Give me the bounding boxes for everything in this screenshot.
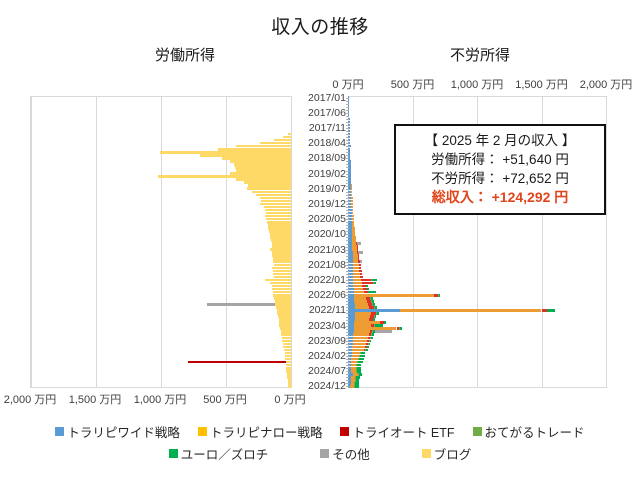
- legend-swatch-icon: [320, 449, 329, 458]
- summary-heading: 【 2025 年 2 月の収入 】: [402, 131, 598, 150]
- category-label: 2022/06: [308, 290, 346, 300]
- category-label: 2022/01: [308, 275, 346, 285]
- category-tick: [346, 338, 349, 339]
- category-tick: [346, 183, 349, 184]
- bar-segment: [355, 385, 359, 388]
- category-tick: [346, 131, 349, 132]
- category-tick: [346, 335, 349, 336]
- subtitle-unearned-income: 不労所得: [355, 44, 605, 65]
- legend-swatch-icon: [198, 427, 207, 436]
- category-tick: [346, 119, 349, 120]
- category-label: 2024/07: [308, 366, 346, 376]
- category-tick: [346, 244, 349, 245]
- legend-item[interactable]: おてがるトレード: [473, 422, 585, 441]
- category-tick: [346, 247, 349, 248]
- category-tick: [346, 231, 349, 232]
- category-label: 2021/08: [308, 260, 346, 270]
- bottom-axis-tick-4: 0 万円: [250, 391, 330, 407]
- category-tick: [346, 368, 349, 369]
- legend-swatch-icon: [55, 427, 64, 436]
- category-label: 2017/11: [309, 123, 346, 133]
- category-tick: [346, 377, 349, 378]
- category-tick: [346, 177, 349, 178]
- category-label: 2018/09: [308, 153, 346, 163]
- category-tick: [346, 307, 349, 308]
- category-tick: [346, 174, 349, 175]
- category-tick: [346, 320, 349, 321]
- gridline-right-panel: [606, 96, 607, 388]
- category-tick: [346, 125, 349, 126]
- category-tick: [346, 149, 349, 150]
- legend-item[interactable]: トラリピワイド戦略: [55, 422, 180, 441]
- category-tick: [346, 365, 349, 366]
- top-axis-tick-4: 2,000 万円: [566, 76, 640, 92]
- category-tick: [346, 222, 349, 223]
- page-title: 収入の推移: [0, 12, 640, 39]
- category-tick: [346, 107, 349, 108]
- legend-label: おてがるトレード: [485, 422, 585, 441]
- category-tick: [346, 371, 349, 372]
- category-tick: [346, 344, 349, 345]
- legend-item[interactable]: トライオート ETF: [340, 422, 454, 441]
- category-tick: [346, 158, 349, 159]
- category-tick: [346, 219, 349, 220]
- category-tick: [346, 210, 349, 211]
- category-tick: [346, 383, 349, 384]
- category-label: 2018/04: [308, 138, 346, 148]
- legend-label: トラリピワイド戦略: [67, 422, 180, 441]
- category-tick: [346, 253, 349, 254]
- legend-item[interactable]: その他: [320, 444, 370, 463]
- category-tick: [346, 128, 349, 129]
- legend-row-1: トラリピワイド戦略トラリピナロー戦略トライオート ETFおてがるトレード: [0, 420, 640, 442]
- bar-segment: [288, 385, 291, 388]
- category-tick: [346, 289, 349, 290]
- category-tick: [346, 295, 349, 296]
- category-tick: [346, 386, 349, 387]
- category-tick: [346, 350, 349, 351]
- category-label: 2020/05: [308, 214, 346, 224]
- legend-label: その他: [332, 444, 370, 463]
- category-axis-labels: 2017/012017/062017/112018/042018/092019/…: [296, 96, 348, 388]
- legend-swatch-icon: [473, 427, 482, 436]
- category-tick: [346, 283, 349, 284]
- category-tick: [346, 180, 349, 181]
- category-tick: [346, 98, 349, 99]
- category-tick: [346, 225, 349, 226]
- income-summary-box: 【 2025 年 2 月の収入 】 労働所得： +51,640 円 不労所得： …: [394, 124, 606, 215]
- legend-swatch-icon: [169, 449, 178, 458]
- bottom-axis-tick-labels: 2,000 万円1,500 万円1,000 万円500 万円0 万円: [0, 391, 640, 407]
- category-tick: [346, 237, 349, 238]
- legend-label: トラリピナロー戦略: [210, 422, 323, 441]
- category-tick: [346, 274, 349, 275]
- bar-row: [31, 385, 291, 388]
- category-label: 2022/11: [309, 305, 346, 315]
- category-tick: [346, 353, 349, 354]
- category-tick: [346, 110, 349, 111]
- category-tick: [346, 146, 349, 147]
- gridline-left-panel: [291, 96, 292, 388]
- chart-legend: トラリピワイド戦略トラリピナロー戦略トライオート ETFおてがるトレード ユーロ…: [0, 420, 640, 472]
- category-tick: [346, 192, 349, 193]
- category-label: 2019/07: [308, 184, 346, 194]
- category-label: 2019/12: [308, 199, 346, 209]
- category-tick: [346, 122, 349, 123]
- category-tick: [346, 277, 349, 278]
- category-label: 2023/09: [308, 336, 346, 346]
- category-tick: [346, 143, 349, 144]
- category-tick: [346, 304, 349, 305]
- category-tick: [346, 301, 349, 302]
- category-tick: [346, 332, 349, 333]
- category-tick: [346, 234, 349, 235]
- summary-total-income: 総収入： +124,292 円: [402, 188, 598, 207]
- category-tick: [346, 137, 349, 138]
- summary-earned-income: 労働所得： +51,640 円: [402, 150, 598, 169]
- category-tick: [346, 271, 349, 272]
- category-tick: [346, 341, 349, 342]
- category-tick: [346, 329, 349, 330]
- category-tick: [346, 152, 349, 153]
- category-tick: [346, 195, 349, 196]
- category-tick: [346, 380, 349, 381]
- category-tick: [346, 186, 349, 187]
- category-label: 2024/12: [308, 381, 346, 391]
- category-tick: [346, 256, 349, 257]
- category-tick: [346, 167, 349, 168]
- category-tick: [346, 265, 349, 266]
- category-tick: [346, 347, 349, 348]
- category-tick: [346, 323, 349, 324]
- category-tick: [346, 286, 349, 287]
- category-tick: [346, 216, 349, 217]
- category-tick: [346, 164, 349, 165]
- category-tick: [346, 201, 349, 202]
- category-tick: [346, 298, 349, 299]
- category-tick: [346, 362, 349, 363]
- category-tick: [346, 213, 349, 214]
- bar-row: [348, 385, 606, 388]
- category-tick: [346, 207, 349, 208]
- category-tick: [346, 268, 349, 269]
- category-tick: [346, 326, 349, 327]
- category-tick: [346, 161, 349, 162]
- category-tick: [346, 313, 349, 314]
- category-label: 2023/04: [308, 321, 346, 331]
- category-label: 2024/02: [308, 351, 346, 361]
- category-tick: [346, 204, 349, 205]
- top-axis-tick-labels: 0 万円500 万円1,000 万円1,500 万円2,000 万円: [0, 76, 640, 92]
- category-label: 2021/03: [308, 245, 346, 255]
- category-tick: [346, 189, 349, 190]
- category-tick: [346, 292, 349, 293]
- category-tick: [346, 259, 349, 260]
- category-tick: [346, 262, 349, 263]
- legend-swatch-icon: [422, 449, 431, 458]
- plot-area-earned-income: [30, 96, 291, 388]
- category-tick: [346, 134, 349, 135]
- category-tick: [346, 140, 349, 141]
- category-tick: [346, 317, 349, 318]
- category-tick: [346, 374, 349, 375]
- legend-item[interactable]: ユーロ／ズロチ: [169, 444, 269, 463]
- legend-swatch-icon: [340, 427, 349, 436]
- category-tick: [346, 171, 349, 172]
- legend-row-2: ユーロ／ズロチその他ブログ: [0, 442, 640, 464]
- legend-label: ブログ: [434, 444, 472, 463]
- category-tick: [346, 240, 349, 241]
- category-tick: [346, 101, 349, 102]
- summary-unearned-income: 不労所得： +72,652 円: [402, 169, 598, 188]
- category-tick: [346, 198, 349, 199]
- category-label: 2019/02: [308, 169, 346, 179]
- category-label: 2017/06: [308, 108, 346, 118]
- legend-item[interactable]: ブログ: [422, 444, 472, 463]
- category-tick: [346, 280, 349, 281]
- category-tick: [346, 310, 349, 311]
- category-label: 2017/01: [308, 93, 346, 103]
- category-tick: [346, 359, 349, 360]
- category-tick: [346, 113, 349, 114]
- category-tick: [346, 155, 349, 156]
- category-tick: [346, 356, 349, 357]
- category-tick: [346, 228, 349, 229]
- category-tick: [346, 104, 349, 105]
- category-tick: [346, 250, 349, 251]
- legend-label: トライオート ETF: [352, 422, 454, 441]
- category-tick: [346, 116, 349, 117]
- legend-label: ユーロ／ズロチ: [181, 444, 269, 463]
- subtitle-earned-income: 労働所得: [60, 44, 310, 65]
- category-label: 2020/10: [308, 229, 346, 239]
- legend-item[interactable]: トラリピナロー戦略: [198, 422, 323, 441]
